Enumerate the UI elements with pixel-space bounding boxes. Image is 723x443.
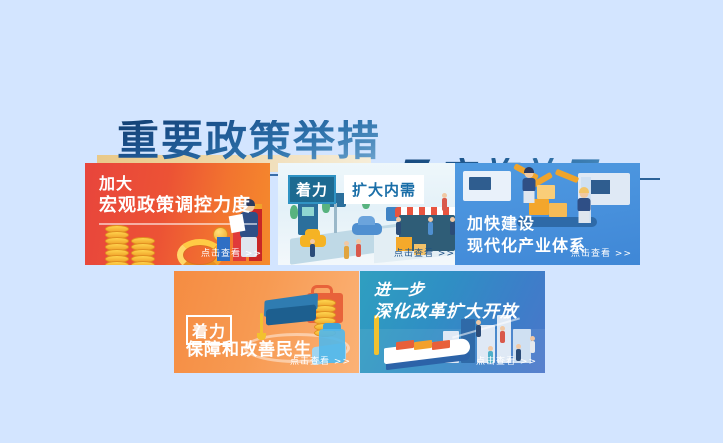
person-icon [396, 222, 401, 235]
person-icon [356, 244, 361, 257]
page-root: 重要政策举措 及实施效果 加大 宏观政策调控力度 点击查看 >> 着力 扩大内需 [0, 0, 723, 443]
card-reform-opening-line1: 进一步 [374, 281, 425, 299]
person-icon [476, 325, 481, 337]
card-macro-policy-line2: 宏观政策调控力度 [99, 196, 251, 217]
tree-icon [290, 205, 298, 219]
card-peoples-livelihood[interactable]: 着力 保障和改善民生 点击查看 >> [174, 271, 359, 373]
card-reform-opening[interactable]: 进一步 深化改革扩大开放 点击查看 >> [360, 271, 545, 373]
card-modern-industry[interactable]: 加快建设 现代化产业体系 点击查看 >> [455, 163, 640, 265]
coin-stack-icon [105, 227, 129, 265]
card-domestic-demand[interactable]: 着力 扩大内需 点击查看 >> [278, 163, 463, 265]
person-icon [442, 198, 447, 211]
signpost-icon [334, 203, 337, 233]
card-domestic-demand-line1: 着力 [288, 175, 336, 204]
crate-icon [549, 203, 567, 217]
cap-tassel-icon [260, 313, 263, 335]
person-icon [310, 244, 315, 257]
card-modern-industry-line2: 现代化产业体系 [467, 237, 586, 255]
person-icon [428, 222, 433, 235]
card-divider [99, 223, 257, 225]
card-reform-opening-cta[interactable]: 点击查看 >> [476, 354, 537, 367]
factory-worker-illustration [521, 169, 537, 199]
car-icon [352, 223, 382, 235]
card-macro-policy-cta[interactable]: 点击查看 >> [201, 246, 262, 259]
card-peoples-livelihood-line1: 着力 [186, 315, 232, 345]
crate-icon [537, 185, 555, 199]
card-macro-policy-line1: 加大 [99, 175, 133, 193]
factory-worker-illustration [576, 189, 592, 223]
card-modern-industry-line1: 加快建设 [467, 215, 535, 233]
person-icon [344, 246, 349, 259]
page-header: 重要政策举措 及实施效果 [0, 58, 723, 148]
coin-stack-icon [131, 239, 155, 265]
card-macro-policy[interactable]: 加大 宏观政策调控力度 点击查看 >> [85, 163, 270, 265]
card-reform-opening-line2: 深化改革扩大开放 [374, 303, 518, 323]
person-icon [530, 341, 535, 353]
card-modern-industry-cta[interactable]: 点击查看 >> [571, 246, 632, 259]
person-icon [500, 331, 505, 343]
card-domestic-demand-cta[interactable]: 点击查看 >> [394, 246, 455, 259]
machine-icon [463, 171, 511, 201]
card-peoples-livelihood-cta[interactable]: 点击查看 >> [290, 354, 351, 367]
robot-arm-icon [555, 169, 580, 184]
card-domestic-demand-line2: 扩大内需 [344, 175, 424, 204]
page-title: 重要政策举措 [117, 120, 381, 162]
